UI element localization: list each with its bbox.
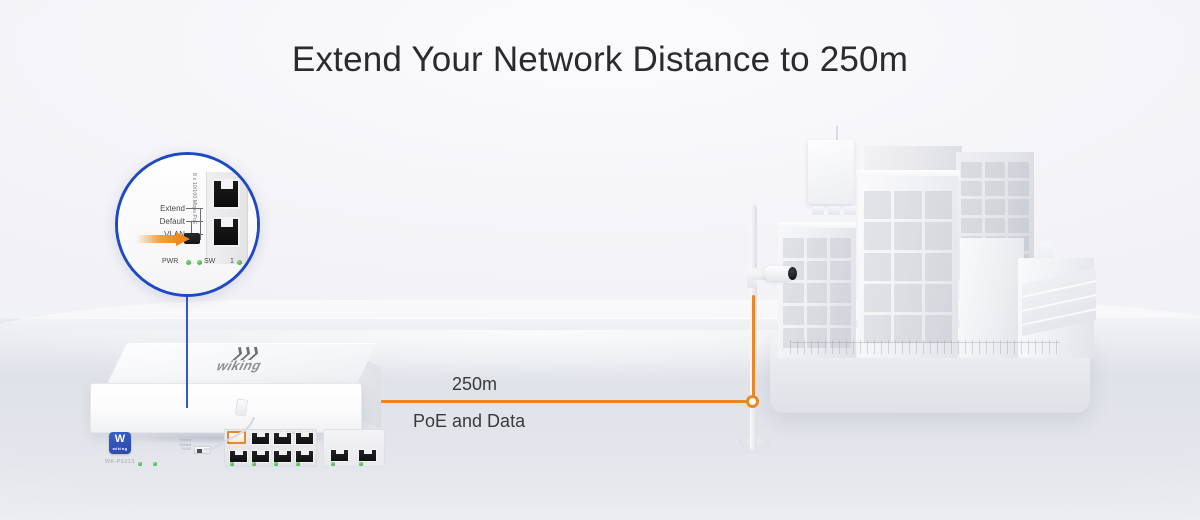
window-grid <box>864 191 952 344</box>
link-riser <box>752 295 755 403</box>
patch-cable <box>202 413 262 451</box>
city-block-render <box>760 118 1100 418</box>
uplink-led <box>359 462 363 466</box>
camera-lens-icon <box>788 267 797 280</box>
callout-connector <box>200 208 201 240</box>
brand-name: wiking <box>197 358 282 372</box>
switch-port[interactable] <box>273 432 292 445</box>
dip-callout-extend: Extend <box>121 202 205 215</box>
led-label-pwr: PWR <box>162 258 178 265</box>
magnifier-callout: 8 x 10/100 Mbps PoE Extend Default VLAN … <box>115 152 260 297</box>
magnified-rj45-port <box>212 179 240 209</box>
magnified-led-row: PWR SW 1 <box>148 258 258 268</box>
rooftop-units <box>812 206 856 215</box>
port-led <box>274 462 278 466</box>
port-led <box>252 462 256 466</box>
badge-sub: wiking <box>109 446 131 451</box>
scene-canvas: Extend Your Network Distance to 250m <box>0 0 1200 520</box>
highlight-arrow-icon <box>136 233 194 245</box>
port-led <box>296 462 300 466</box>
switch-port[interactable] <box>295 432 314 445</box>
pwr-led <box>186 260 191 265</box>
uplink-port[interactable] <box>358 449 377 462</box>
perimeter-fence <box>790 340 1060 354</box>
link-payload-label: PoE and Data <box>413 411 525 432</box>
uplink-led <box>331 462 335 466</box>
led-label-port1: 1 <box>230 258 234 265</box>
brand-badge: W wiking <box>109 432 131 454</box>
badge-letter: W <box>115 433 125 445</box>
port1-led <box>237 260 242 265</box>
pwr-led <box>138 462 142 466</box>
dip-callout-labels: Extend Default VLAN <box>163 438 191 452</box>
magnifier-leader-line <box>186 290 188 408</box>
sw-led <box>197 260 202 265</box>
page-title: Extend Your Network Distance to 250m <box>0 40 1200 80</box>
port-led <box>230 462 234 466</box>
led-label-sw: SW <box>204 258 215 265</box>
rooftop-billboard <box>808 140 854 204</box>
model-label: WK-PS213 <box>105 459 135 465</box>
sw-led <box>153 462 157 466</box>
link-node-camera <box>746 395 759 408</box>
building-left <box>778 228 856 358</box>
magnified-rj45-port <box>212 217 240 247</box>
link-distance-label: 250m <box>452 374 497 395</box>
dip-callout-default: Default <box>121 215 205 228</box>
poe-switch: ❯❯❯ wiking W wiking WK-PS213 Extend Defa… <box>90 343 375 443</box>
uplink-port[interactable] <box>330 449 349 462</box>
building-center <box>858 176 958 358</box>
window-grid <box>783 238 852 347</box>
brand-logo: ❯❯❯ wiking <box>195 346 288 377</box>
